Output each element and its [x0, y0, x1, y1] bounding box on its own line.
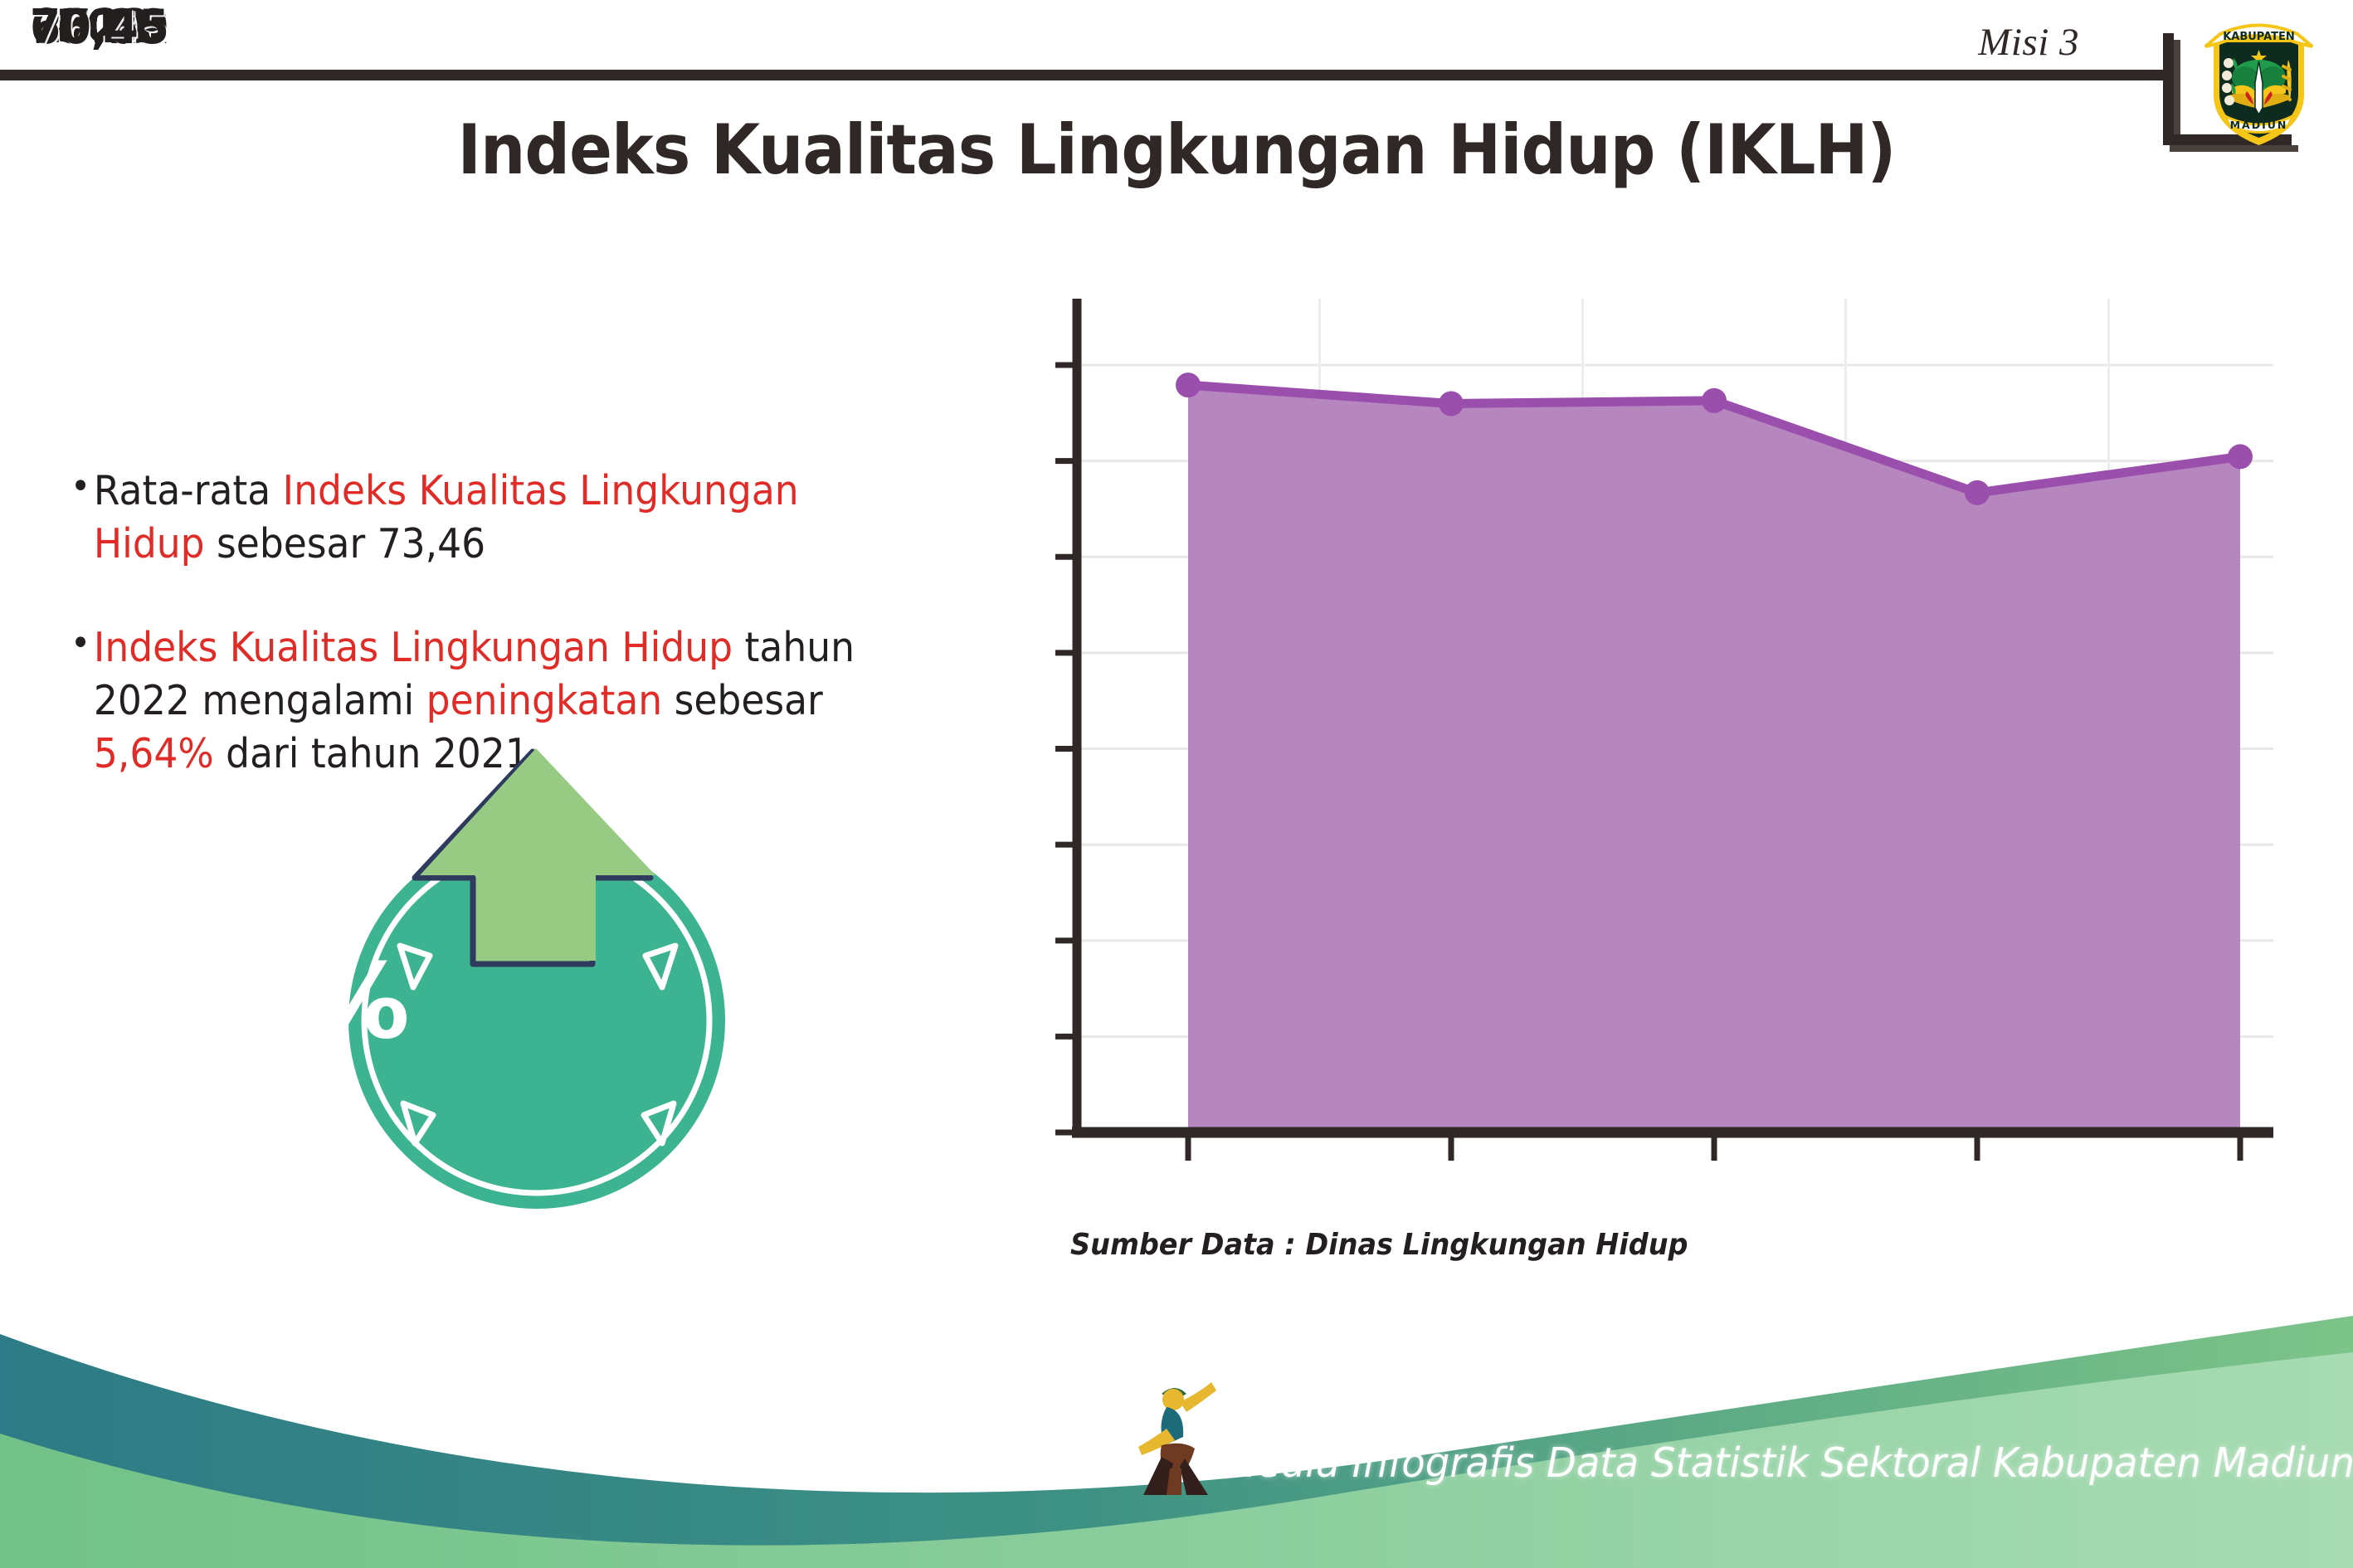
iklh-area-chart	[979, 299, 2273, 1178]
svg-text:KABUPATEN: KABUPATEN	[2223, 31, 2295, 43]
data-point-2020	[1702, 388, 1727, 413]
growth-badge	[315, 747, 797, 1220]
source-note: Sumber Data : Dinas Lingkungan Hidup	[1070, 1228, 1688, 1262]
bullet-item-1: Rata-rata Indeks Kualitas Lingkungan Hid…	[71, 465, 904, 570]
value-label-2022: 70,45	[7, 0, 192, 55]
dancer-figure-icon	[1137, 1377, 1236, 1502]
bullet-1-segment-3: sebesar 73,46	[205, 520, 486, 567]
data-point-2019	[1439, 391, 1464, 416]
bullet-1-segment-1: Rata-rata	[94, 467, 283, 514]
footer-caption: Media Infografis Data Statistik Sektoral…	[1224, 1439, 2353, 1487]
data-point-2021	[1965, 480, 1990, 505]
misi-label: Misi 3	[1978, 20, 2079, 65]
data-point-2018	[1176, 373, 1201, 397]
data-point-2022	[2228, 444, 2253, 469]
page-title: Indeks Kualitas Lingkungan Hidup (IKLH)	[94, 110, 2258, 190]
bullet-2-segment-4: sebesar	[662, 677, 823, 724]
series-area-fill	[1188, 385, 2240, 1132]
bullet-2-segment-3: peningkatan	[426, 677, 663, 724]
bullet-2-segment-1: Indeks Kualitas Lingkungan Hidup	[94, 624, 733, 671]
header-divider-rule	[0, 70, 2172, 80]
bullet-2-segment-5: 5,64%	[94, 730, 214, 777]
